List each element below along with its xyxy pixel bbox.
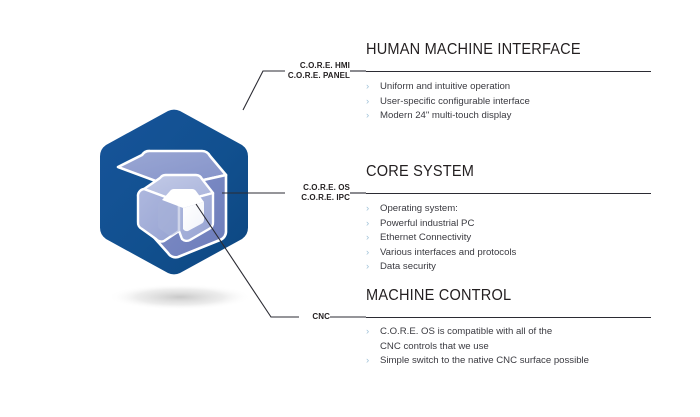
section-title-machine-control: MACHINE CONTROL [366,287,676,304]
section-bullets-machine-control: › C.O.R.E. OS is compatible with all of … [366,325,696,369]
bullet-list-core-system: › Operating system: › Powerful industria… [366,202,696,275]
bullet-text: Powerful industrial PC [380,217,474,232]
bullet-text: Ethernet Connectivity [380,231,471,246]
bullet-text: User-specific configurable interface [380,95,530,110]
connector-label-hmi-line1: C.O.R.E. HMI [250,61,350,71]
bullet-list-human-machine-interface: › Uniform and intuitive operation › User… [366,80,696,124]
list-item: › Simple switch to the native CNC surfac… [366,354,696,369]
connector-label-cnc-line1: CNC [230,312,330,322]
list-item: › Ethernet Connectivity [366,231,696,246]
bullet-text-line2: CNC controls that we use [380,340,552,355]
section-rule-machine-control [366,317,651,318]
section-bullets-core-system: › Operating system: › Powerful industria… [366,202,696,275]
list-item: › User-specific configurable interface [366,95,696,110]
chevron-right-icon: › [366,325,369,340]
list-item: › Powerful industrial PC [366,217,696,232]
chevron-right-icon: › [366,260,369,275]
list-item: › Data security [366,260,696,275]
section-bullets-human-machine-interface: › Uniform and intuitive operation › User… [366,80,696,124]
section-rule-core-system [366,193,651,194]
section-title-human-machine-interface: HUMAN MACHINE INTERFACE [366,41,676,58]
connector-label-core-line1: C.O.R.E. OS [250,183,350,193]
nested-hexagon-core-logo [80,105,280,320]
section-machine-control: MACHINE CONTROL [366,287,696,304]
chevron-right-icon: › [366,354,369,369]
bullet-text: Operating system: [380,202,458,217]
bullet-text: Modern 24" multi-touch display [380,109,511,124]
bullet-text: Various interfaces and protocols [380,246,516,261]
list-item: › C.O.R.E. OS is compatible with all of … [366,325,696,354]
list-item: › Various interfaces and protocols [366,246,696,261]
connector-label-hmi: C.O.R.E. HMI C.O.R.E. PANEL [250,61,350,80]
chevron-right-icon: › [366,109,369,124]
list-item: › Operating system: [366,202,696,217]
bullet-text: Data security [380,260,436,275]
diagram-canvas: C.O.R.E. HMI C.O.R.E. PANEL C.O.R.E. OS … [0,0,700,417]
connector-label-core: C.O.R.E. OS C.O.R.E. IPC [250,183,350,202]
bullet-text: Uniform and intuitive operation [380,80,510,95]
chevron-right-icon: › [366,231,369,246]
bullet-list-machine-control: › C.O.R.E. OS is compatible with all of … [366,325,696,369]
bullet-text: C.O.R.E. OS is compatible with all of th… [380,325,552,354]
connector-label-hmi-line2: C.O.R.E. PANEL [250,71,350,81]
chevron-right-icon: › [366,246,369,261]
section-core-system: CORE SYSTEM [366,163,696,180]
chevron-right-icon: › [366,95,369,110]
list-item: › Uniform and intuitive operation [366,80,696,95]
connector-label-cnc: CNC [230,312,330,322]
chevron-right-icon: › [366,217,369,232]
list-item: › Modern 24" multi-touch display [366,109,696,124]
bullet-text-line1: C.O.R.E. OS is compatible with all of th… [380,326,552,337]
chevron-right-icon: › [366,80,369,95]
chevron-right-icon: › [366,202,369,217]
logo-shadow [108,284,252,310]
bullet-text: Simple switch to the native CNC surface … [380,354,589,369]
section-human-machine-interface: HUMAN MACHINE INTERFACE [366,41,696,58]
section-rule-human-machine-interface [366,71,651,72]
connector-label-core-line2: C.O.R.E. IPC [250,193,350,203]
section-title-core-system: CORE SYSTEM [366,163,676,180]
